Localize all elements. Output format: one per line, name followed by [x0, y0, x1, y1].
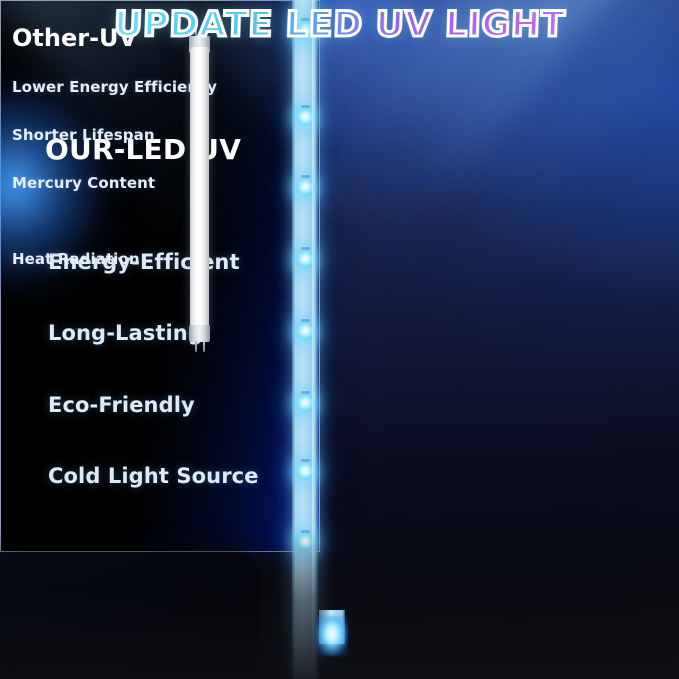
- other-uv-feature-heat-radiation: Heat Radiation: [12, 250, 140, 268]
- led-dot: [297, 251, 314, 268]
- led-dot: [297, 179, 314, 196]
- led-dot: [297, 534, 314, 551]
- page-title: UPDATE LED UV LIGHT: [113, 5, 566, 46]
- our-led-uv-card-body: OUR-LED UV Energy-Efficient Long-Lasting…: [0, 0, 679, 679]
- header: UPDATE LED UV LIGHT: [0, 5, 679, 46]
- led-dot: [297, 463, 314, 480]
- led-dot: [297, 109, 314, 126]
- other-uv-feature-mercury-content: Mercury Content: [12, 174, 155, 192]
- our-led-feature-cold-light-source: Cold Light Source: [48, 464, 259, 488]
- fluorescent-tube: [182, 22, 216, 362]
- led-strip-tail-glow: [316, 616, 348, 656]
- other-uv-feature-shorter-lifespan: Shorter Lifespan: [12, 126, 155, 144]
- led-dot: [297, 395, 314, 412]
- our-led-feature-eco-friendly: Eco-Friendly: [48, 393, 195, 417]
- tube-cap-bottom: [189, 325, 210, 342]
- tube-glass: [190, 47, 209, 332]
- our-led-feature-long-lasting: Long-Lasting: [48, 321, 203, 345]
- led-strip: [292, 0, 318, 679]
- poster-stage: UPDATE LED UV LIGHT OUR-LED UV Energy-Ef…: [0, 0, 679, 679]
- led-dot: [297, 323, 314, 340]
- tube-pin-bottom-right: [203, 341, 205, 352]
- tube-pin-bottom-left: [195, 341, 197, 352]
